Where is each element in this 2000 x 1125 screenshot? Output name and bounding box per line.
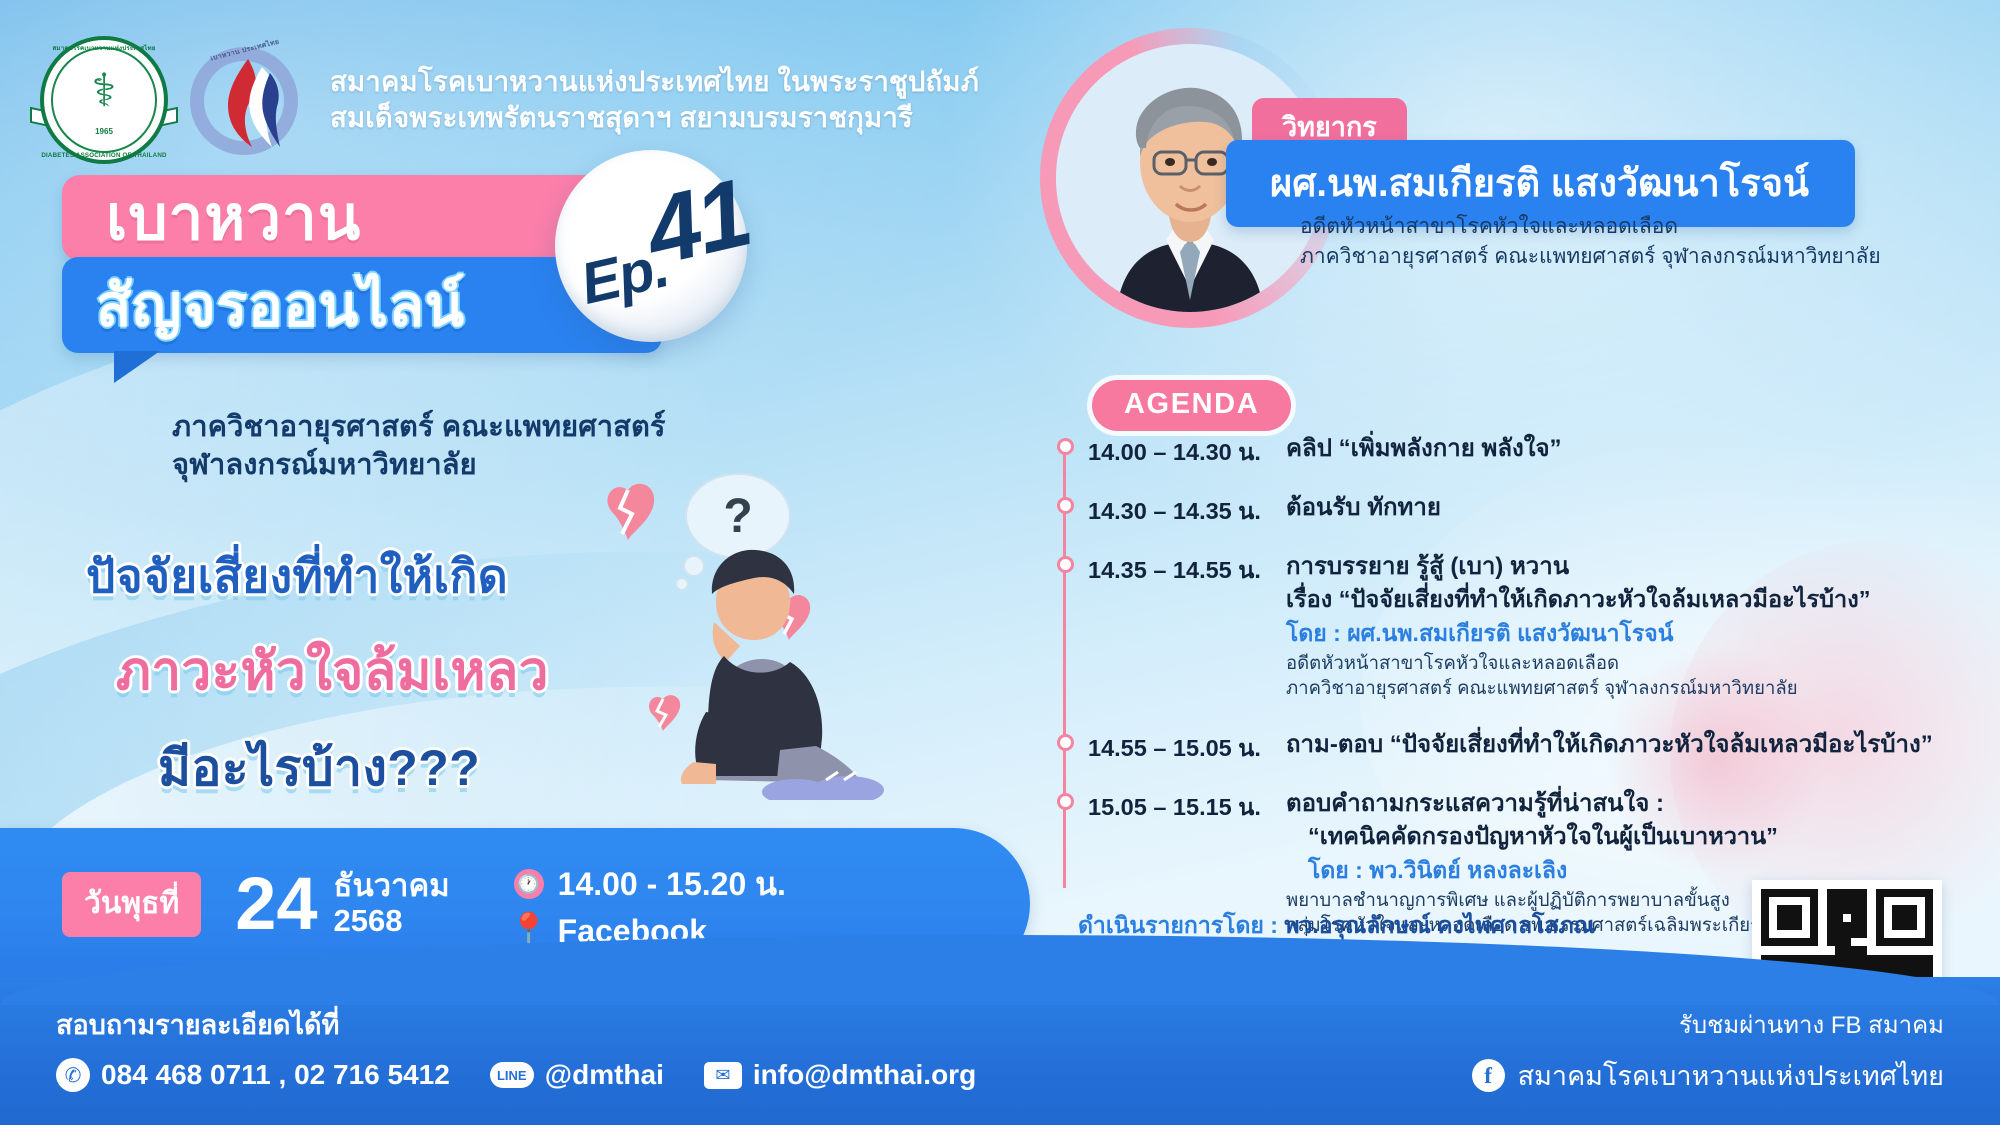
timeline-dot-icon [1057, 734, 1074, 751]
date-day-number: 24 [235, 867, 317, 941]
title-line-1: เบาหวาน [106, 169, 361, 267]
diabetes-association-seal-icon: สมาคมโรคเบาหวานแห่งประเทศไทย ⚕ 1965 DIAB… [40, 36, 168, 164]
agenda-title: ถาม-ตอบ “ปัจจัยเสี่ยงที่ทำให้เกิดภาวะหัว… [1286, 728, 1960, 761]
agenda-time: 15.05 – 15.15 น. [1088, 785, 1286, 826]
footer: สอบถามรายละเอียดได้ที่ ✆ 084 468 0711 , … [0, 977, 2000, 1125]
agenda-subtitle: เรื่อง “ปัจจัยเสี่ยงที่ทำให้เกิดภาวะหัวใ… [1286, 583, 1960, 616]
seal-year: 1965 [40, 127, 168, 136]
location-pin-icon: 📍 [514, 916, 544, 946]
line-icon: LINE [490, 1062, 534, 1088]
speaker-credential-1: อดีตหัวหน้าสาขาโรคหัวใจและหลอดเลือด [1300, 212, 1881, 242]
footer-email[interactable]: ✉ info@dmthai.org [704, 1059, 976, 1091]
department-line-1: ภาควิชาอายุรศาสตร์ คณะแพทยศาสตร์ [172, 408, 666, 446]
event-time: 14.00 - 15.20 น. [558, 859, 786, 910]
date-month-year: ธันวาคม 2568 [334, 869, 450, 938]
agenda-note: อดีตหัวหน้าสาขาโรคหัวใจและหลอดเลือด [1286, 650, 1960, 675]
agenda-speaker: โดย : ผศ.นพ.สมเกียรติ แสงวัฒนาโรจน์ [1286, 617, 1960, 650]
seal-arc-top: สมาคมโรคเบาหวานแห่งประเทศไทย [40, 43, 168, 53]
clock-icon: 🕐 [514, 869, 544, 899]
footer-phone[interactable]: ✆ 084 468 0711 , 02 716 5412 [56, 1058, 450, 1092]
org-line-2: สมเด็จพระเทพรัตนราชสุดาฯ สยามบรมราชกุมาร… [330, 100, 979, 136]
org-line-1: สมาคมโรคเบาหวานแห่งประเทศไทย ในพระราชูปถ… [330, 64, 979, 100]
agenda-item: 14.35 – 14.55 น. การบรรยาย รู้สู้ (เบา) … [1050, 548, 1960, 700]
agenda-time: 14.00 – 14.30 น. [1088, 430, 1286, 471]
footer-email-text: info@dmthai.org [753, 1059, 976, 1091]
episode-label: Ep. [575, 233, 675, 318]
header-org-text: สมาคมโรคเบาหวานแห่งประเทศไทย ในพระราชูปถ… [330, 64, 979, 137]
footer-watch-label: รับชมผ่านทาง FB สมาคม [1472, 1005, 1944, 1044]
diabetes-thailand-flame-icon: เบาหวาน ประเทศไทย [184, 39, 306, 161]
footer-line-id: @dmthai [545, 1059, 664, 1091]
facebook-icon: f [1472, 1059, 1505, 1092]
footer-contact: สอบถามรายละเอียดได้ที่ ✆ 084 468 0711 , … [56, 1003, 976, 1092]
person-figure [681, 550, 884, 800]
agenda-title: การบรรยาย รู้สู้ (เบา) หวาน [1286, 550, 1960, 583]
timeline-dot-icon [1057, 793, 1074, 810]
timeline-dot-icon [1057, 438, 1074, 455]
speaker-credential-2: ภาควิชาอายุรศาสตร์ คณะแพทยศาสตร์ จุฬาลงก… [1300, 242, 1881, 272]
agenda-time: 14.30 – 14.35 น. [1088, 489, 1286, 530]
poster-canvas: สมาคมโรคเบาหวานแห่งประเทศไทย ⚕ 1965 DIAB… [0, 0, 2000, 1125]
agenda-title: ต้อนรับ ทักทาย [1286, 491, 1960, 524]
agenda-subtitle: “เทคนิคคัดกรองปัญหาหัวใจในผู้เป็นเบาหวาน… [1308, 820, 1960, 853]
agenda-note: ภาควิชาอายุรศาสตร์ คณะแพทยศาสตร์ จุฬาลงก… [1286, 675, 1960, 700]
agenda-title: คลิป “เพิ่มพลังกาย พลังใจ” [1286, 432, 1960, 465]
mail-icon: ✉ [704, 1062, 742, 1089]
header: สมาคมโรคเบาหวานแห่งประเทศไทย ⚕ 1965 DIAB… [40, 36, 979, 164]
title-line-2: สัญจรออนไลน์ [96, 259, 465, 352]
phone-icon: ✆ [56, 1058, 90, 1092]
moderator-name: พว.อรุณลักษณ์ คงไพศาลโสภณ [1284, 912, 1595, 938]
timeline-dot-icon [1057, 556, 1074, 573]
agenda-badge: AGENDA [1092, 380, 1291, 431]
agenda-time: 14.35 – 14.55 น. [1088, 548, 1286, 589]
date-year: 2568 [334, 904, 450, 939]
agenda-item: 14.55 – 15.05 น. ถาม-ตอบ “ปัจจัยเสี่ยงที… [1050, 726, 1960, 767]
timeline-dot-icon [1057, 497, 1074, 514]
episode-badge: 41 Ep. [555, 150, 747, 342]
footer-facebook-page: สมาคมโรคเบาหวานแห่งประเทศไทย [1518, 1054, 1944, 1097]
footer-contact-title: สอบถามรายละเอียดได้ที่ [56, 1003, 976, 1046]
title-band-pink: เบาหวาน [62, 175, 622, 261]
footer-watch: รับชมผ่านทาง FB สมาคม f สมาคมโรคเบาหวานแ… [1472, 1005, 1944, 1097]
time-row: 🕐 14.00 - 15.20 น. [514, 859, 786, 910]
svg-text:?: ? [723, 490, 752, 543]
footer-line[interactable]: LINE @dmthai [490, 1059, 664, 1091]
caduceus-icon: ⚕ [92, 67, 117, 113]
speaker-credentials: อดีตหัวหน้าสาขาโรคหัวใจและหลอดเลือด ภาคว… [1300, 212, 1881, 272]
sad-person-illustration: ? [590, 470, 930, 800]
moderator-label: ดำเนินรายการโดย : [1078, 912, 1278, 938]
agenda-title: ตอบคำถามกระแสความรู้ที่น่าสนใจ : [1286, 787, 1960, 820]
seal-arc-bottom: DIABETES ASSOCIATION OF THAILAND [40, 152, 168, 159]
agenda-item: 14.00 – 14.30 น. คลิป “เพิ่มพลังกาย พลัง… [1050, 430, 1960, 471]
footer-phone-text: 084 468 0711 , 02 716 5412 [101, 1059, 450, 1091]
agenda-item: 14.30 – 14.35 น. ต้อนรับ ทักทาย [1050, 489, 1960, 530]
footer-facebook[interactable]: f สมาคมโรคเบาหวานแห่งประเทศไทย [1472, 1054, 1944, 1097]
date-month: ธันวาคม [334, 869, 450, 904]
title-band-tail [114, 351, 160, 383]
agenda-time: 14.55 – 15.05 น. [1088, 726, 1286, 767]
weekday-badge: วันพุธที่ [62, 872, 201, 937]
